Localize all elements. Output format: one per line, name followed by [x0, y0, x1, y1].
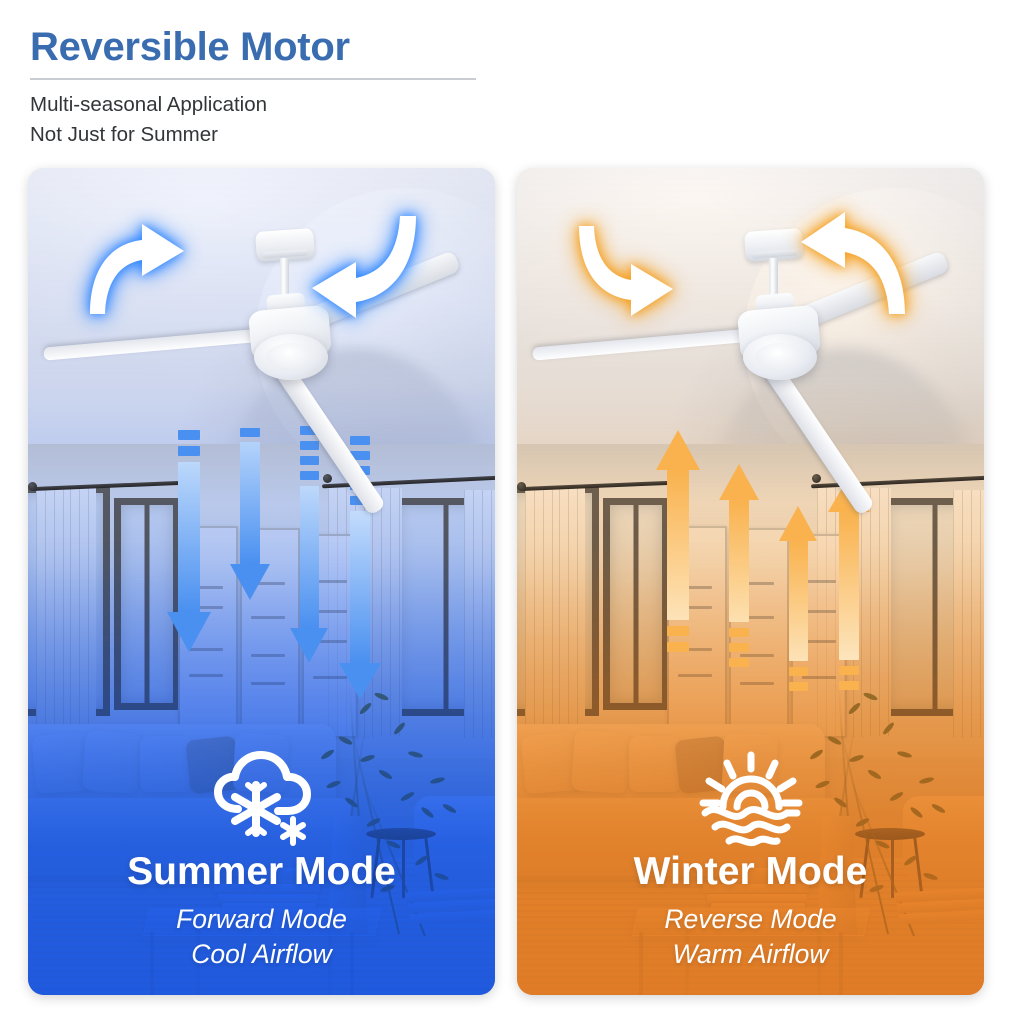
- airflow-arrows-down: [28, 430, 495, 690]
- subtitle-line-2: Not Just for Summer: [30, 120, 550, 149]
- summer-sub-line-2: Cool Airflow: [28, 937, 495, 971]
- fan-downrod: [280, 258, 289, 298]
- title-divider: [30, 78, 476, 80]
- summer-sub-line-1: Forward Mode: [28, 902, 495, 936]
- snow-cloud-icon: [208, 751, 316, 847]
- summer-mode-subtitle: Forward Mode Cool Airflow: [28, 902, 495, 971]
- header: Reversible Motor Multi-seasonal Applicat…: [30, 26, 550, 149]
- subtitle: Multi-seasonal Application Not Just for …: [30, 90, 550, 149]
- winter-mode-title: Winter Mode: [517, 851, 984, 893]
- mode-panels: Summer Mode Forward Mode Cool Airflow: [0, 168, 1024, 998]
- fan-blade: [43, 329, 257, 361]
- fan-blade: [532, 329, 746, 361]
- sunrise-icon: [697, 751, 805, 847]
- curved-arrow-up-right-icon: [84, 218, 192, 322]
- winter-sub-line-1: Reverse Mode: [517, 902, 984, 936]
- curved-arrow-down-left-icon: [304, 210, 422, 320]
- summer-mode-title: Summer Mode: [28, 851, 495, 893]
- panel-summer-mode: Summer Mode Forward Mode Cool Airflow: [28, 168, 495, 995]
- fan-light-kit: [254, 334, 328, 380]
- summer-label-block: Summer Mode Forward Mode Cool Airflow: [28, 751, 495, 971]
- airflow-arrows-up: [517, 430, 984, 690]
- ceiling-fan-summer: [28, 182, 495, 432]
- infographic-root: Reversible Motor Multi-seasonal Applicat…: [0, 0, 1024, 1024]
- fan-light-kit: [743, 334, 817, 380]
- panel-winter-mode: Winter Mode Reverse Mode Warm Airflow: [517, 168, 984, 995]
- subtitle-line-1: Multi-seasonal Application: [30, 90, 550, 119]
- winter-sub-line-2: Warm Airflow: [517, 937, 984, 971]
- curved-arrow-down-right-icon: [573, 218, 681, 322]
- winter-label-block: Winter Mode Reverse Mode Warm Airflow: [517, 751, 984, 971]
- ceiling-fan-winter: [517, 182, 984, 432]
- scene-winter: Winter Mode Reverse Mode Warm Airflow: [517, 168, 984, 995]
- winter-mode-subtitle: Reverse Mode Warm Airflow: [517, 902, 984, 971]
- scene-summer: Summer Mode Forward Mode Cool Airflow: [28, 168, 495, 995]
- page-title: Reversible Motor: [30, 26, 550, 69]
- fan-downrod: [769, 258, 778, 298]
- curved-arrow-up-left-icon: [793, 210, 911, 320]
